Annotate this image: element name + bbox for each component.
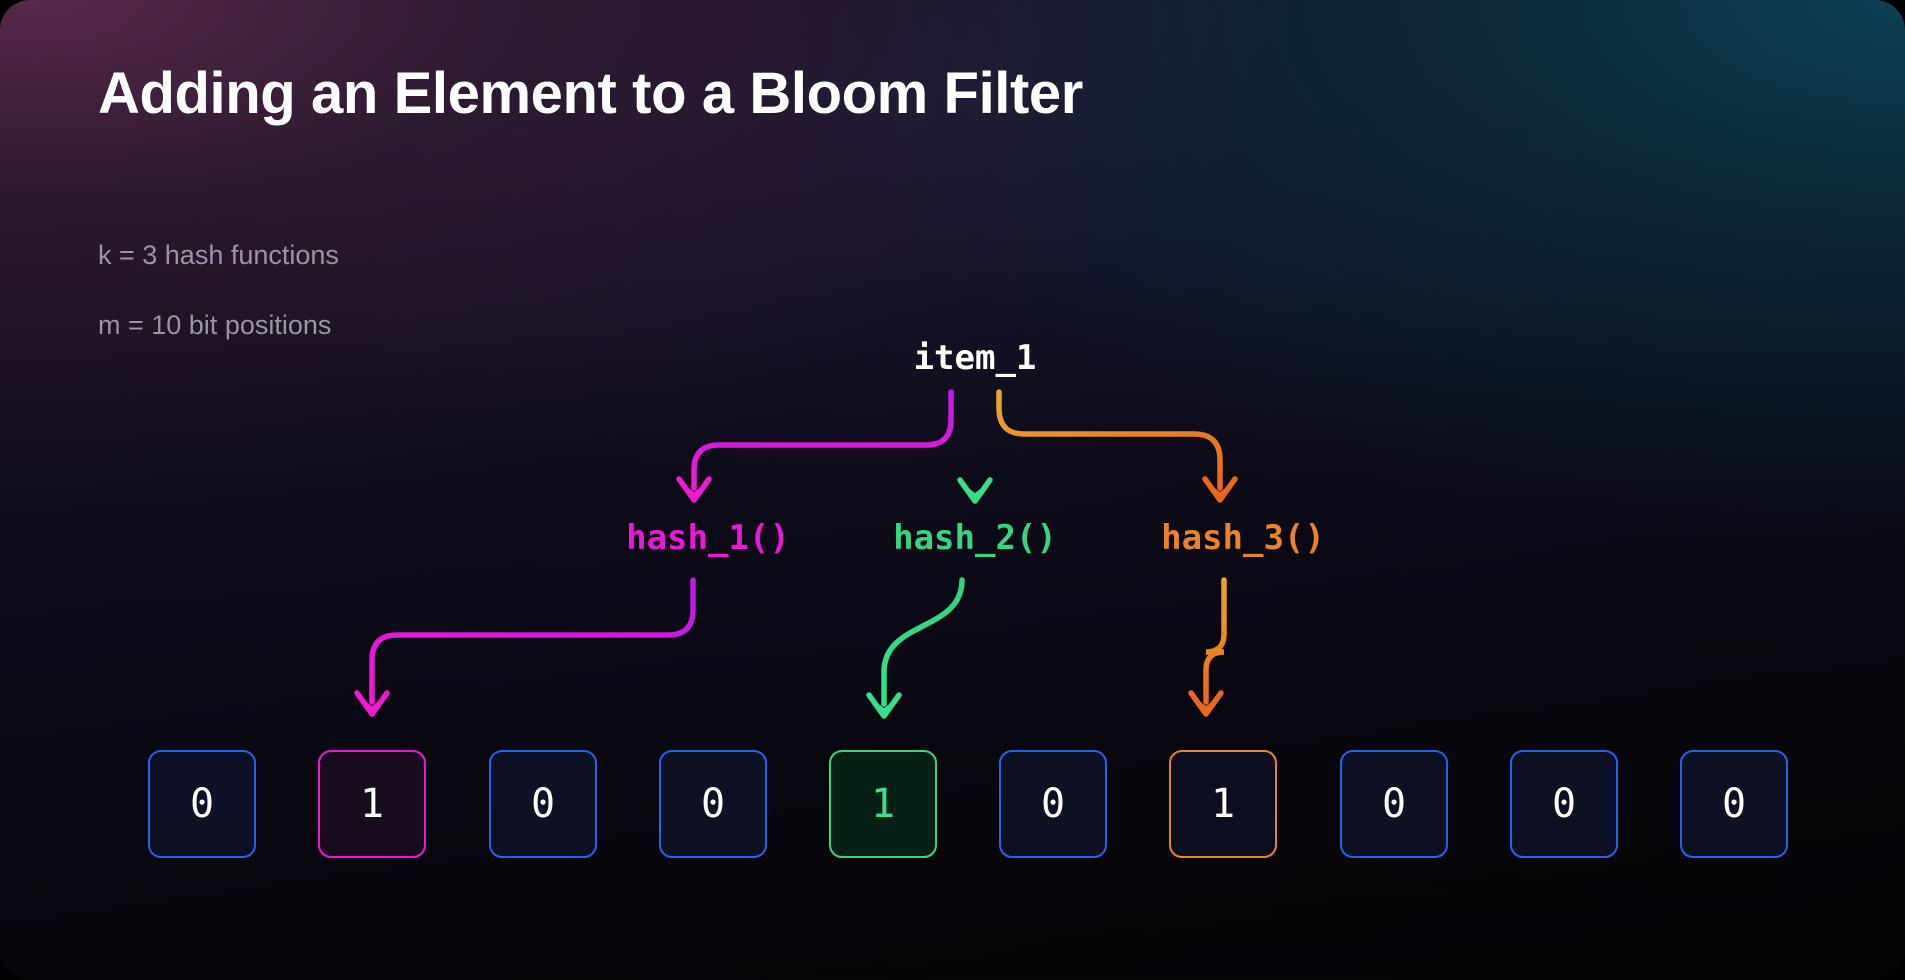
hash-function-label-2: hash_2() [893,518,1057,558]
connector-hash1-to-bit1 [356,580,693,716]
hash-function-label-3: hash_3() [1161,518,1325,558]
connector-item-to-hash2 [959,392,991,503]
bit-cell-5[interactable]: 0 [999,750,1107,858]
param-k: k = 3 hash functions [98,240,339,271]
bit-cell-8[interactable]: 0 [1510,750,1618,858]
hash-function-label-1: hash_1() [626,518,790,558]
bit-cell-0[interactable]: 0 [148,750,256,858]
bit-cell-9[interactable]: 0 [1680,750,1788,858]
bit-cell-4[interactable]: 1 [829,750,937,858]
connector-item-to-hash1 [678,392,951,502]
diagram-card: Adding an Element to a Bloom Filter k = … [0,0,1905,980]
param-m: m = 10 bit positions [98,310,331,341]
bit-cell-7[interactable]: 0 [1340,750,1448,858]
bit-cell-2[interactable]: 0 [489,750,597,858]
connector-hash2-to-bit4 [868,580,962,718]
connector-hash3-to-bit6 [1190,580,1224,716]
connector-item-to-hash3 [999,392,1236,502]
item-label: item_1 [914,338,1037,378]
bit-cell-3[interactable]: 0 [659,750,767,858]
page-title: Adding an Element to a Bloom Filter [98,60,1083,127]
bit-array: 0 1 0 0 1 0 1 0 0 0 [0,750,1905,858]
bit-cell-6[interactable]: 1 [1169,750,1277,858]
bit-cell-1[interactable]: 1 [318,750,426,858]
